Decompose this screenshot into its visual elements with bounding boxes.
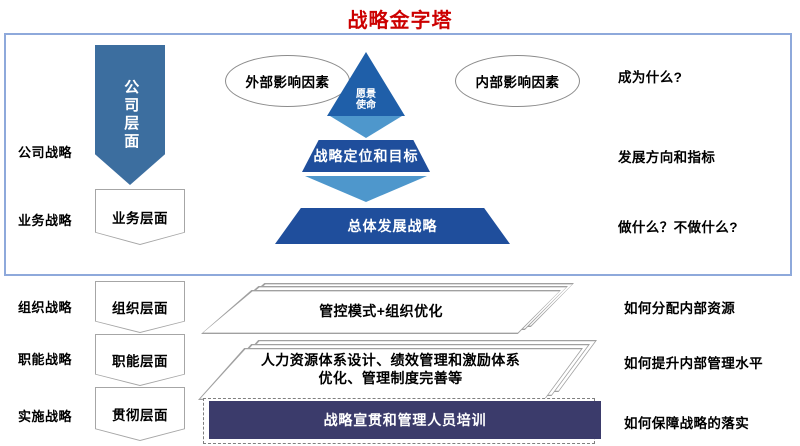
- question-improve-management: 如何提升内部管理水平: [624, 352, 763, 372]
- lower-stack-hr-system-label: 人力资源体系设计、绩效管理和激励体系 优化、管理制度完善等: [198, 344, 583, 396]
- mission-line: 使命: [356, 101, 376, 112]
- external-factors-ellipse[interactable]: 外部影响因素: [225, 55, 350, 107]
- left-label-organization-strategy: 组织战略: [18, 297, 72, 316]
- level-chevron-company-label: 公司层面: [122, 79, 139, 151]
- internal-factors-label: 内部影响因素: [476, 71, 560, 91]
- level-chevron-function[interactable]: 职能层面: [95, 334, 185, 386]
- hr-system-line-1: 人力资源体系设计、绩效管理和激励体系: [261, 352, 520, 370]
- vision-mission-label: 愿景 使命: [356, 90, 376, 116]
- level-chevron-implementation[interactable]: 贯彻层面: [95, 387, 185, 441]
- left-label-function-strategy: 职能战略: [18, 349, 72, 368]
- pyramid-band-overall-development-label: 总体发展战略: [348, 216, 438, 236]
- left-label-corporate-strategy: 公司战略: [18, 142, 72, 161]
- level-chevron-organization[interactable]: 组织层面: [95, 281, 185, 333]
- hr-system-line-2: 优化、管理制度完善等: [319, 370, 463, 388]
- question-allocate-resources: 如何分配内部资源: [624, 297, 735, 317]
- internal-factors-ellipse[interactable]: 内部影响因素: [455, 55, 580, 107]
- level-chevron-implementation-label: 贯彻层面: [112, 404, 168, 424]
- question-development-direction: 发展方向和指标: [618, 146, 715, 166]
- left-label-business-strategy: 业务战略: [18, 210, 72, 229]
- question-ensure-implementation: 如何保障战略的落实: [624, 412, 749, 432]
- bottom-bar-training-label: 战略宣贯和管理人员培训: [324, 410, 487, 430]
- pyramid-band-strategy-positioning[interactable]: 战略定位和目标: [302, 140, 430, 172]
- vision-line: 愿景: [356, 90, 376, 101]
- slide-canvas: 战略金字塔 公司战略 业务战略 组织战略 职能战略 实施战略 公司层面 业务层面…: [0, 0, 800, 446]
- level-chevron-business-label: 业务层面: [112, 207, 168, 227]
- question-what-to-do: 做什么？不做什么?: [618, 216, 738, 236]
- bottom-bar-training[interactable]: 战略宣贯和管理人员培训: [209, 401, 601, 439]
- lower-stack-control-mode-label: 管控模式+组织优化: [201, 290, 561, 334]
- left-label-implementation-strategy: 实施战略: [18, 406, 72, 425]
- pyramid-band-overall-development[interactable]: 总体发展战略: [275, 208, 510, 244]
- level-chevron-organization-label: 组织层面: [112, 297, 168, 317]
- question-become-what: 成为什么?: [618, 66, 682, 86]
- level-chevron-function-label: 职能层面: [112, 350, 168, 370]
- pyramid-band-strategy-positioning-label: 战略定位和目标: [314, 146, 419, 166]
- page-title: 战略金字塔: [0, 4, 800, 33]
- external-factors-label: 外部影响因素: [246, 71, 330, 91]
